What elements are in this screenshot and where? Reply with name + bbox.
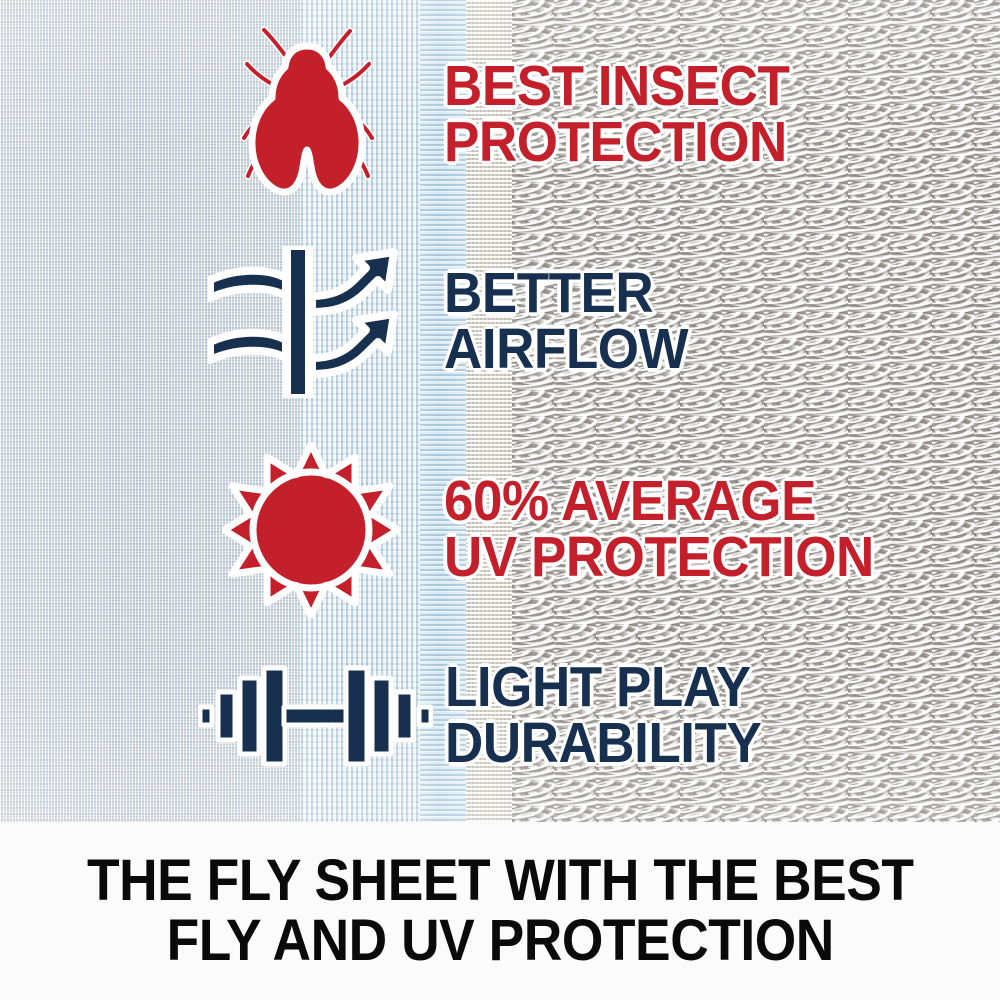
feature-label-uv-protection: 60% AVERAGE UV PROTECTION [444,474,874,586]
airflow-icon [208,246,408,398]
fly-icon [228,26,386,204]
feature-row-durability: LIGHT PLAY DURABILITY [198,660,785,772]
feature-row-insect-protection: BEST INSECT PROTECTION [228,26,815,204]
product-feature-infographic: BEST INSECT PROTECTION BETTER AIRF [0,0,1000,1000]
feature-label-insect-protection: BEST INSECT PROTECTION [444,59,789,171]
bottom-banner-headline: THE FLY SHEET WITH THE BEST FLY AND UV P… [87,851,914,972]
bottom-banner: THE FLY SHEET WITH THE BEST FLY AND UV P… [0,822,1000,1000]
feature-label-airflow: BETTER AIRFLOW [444,266,688,378]
dumbbell-icon [198,664,433,768]
feature-row-uv-protection: 60% AVERAGE UV PROTECTION [222,442,906,618]
feature-label-durability: LIGHT PLAY DURABILITY [445,660,761,772]
sun-icon [222,442,400,618]
feature-row-airflow: BETTER AIRFLOW [208,246,706,398]
